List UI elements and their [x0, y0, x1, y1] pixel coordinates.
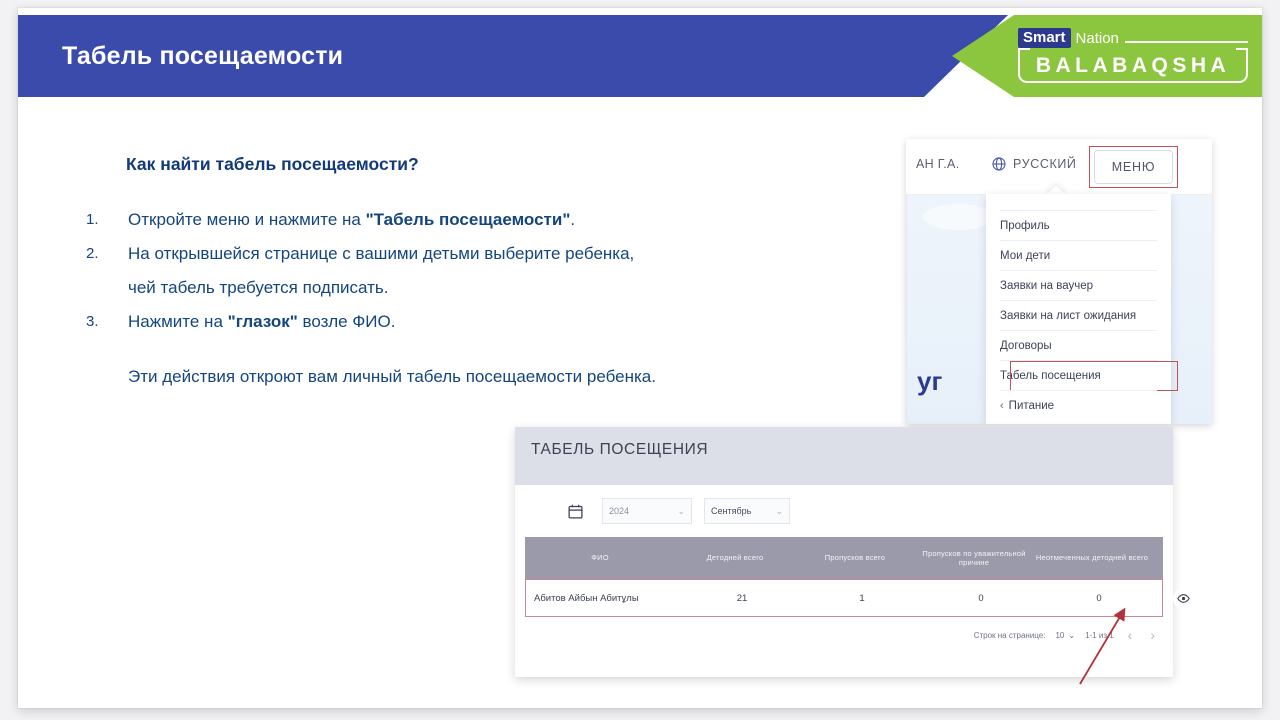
pagination-range: 1-1 из 1: [1085, 631, 1114, 640]
menu-button[interactable]: МЕНЮ: [1094, 150, 1173, 184]
globe-icon: [991, 156, 1007, 172]
logo-product-text: BALABAQSHA: [1036, 54, 1230, 78]
eye-icon: [1177, 592, 1190, 605]
page-title: Табель посещаемости: [62, 15, 343, 97]
attendance-menu-highlight: [1010, 361, 1178, 391]
calendar-icon: [567, 503, 584, 520]
table-header-row: ФИО Детодней всего Пропусков всего Пропу…: [525, 537, 1163, 579]
chevron-down-icon: ⌄: [775, 506, 783, 517]
chevron-down-icon: ⌄: [677, 506, 685, 517]
pagination: Строк на странице: 10 ⌄ 1-1 из 1 ‹ ›: [515, 627, 1159, 643]
view-row-button[interactable]: [1173, 588, 1194, 609]
column-header-child-days: Детодней всего: [675, 553, 795, 563]
menu-item-label: Питание: [1009, 400, 1054, 412]
cell-child-days: 21: [682, 593, 802, 604]
dropdown-top-spacer: [986, 194, 1171, 210]
background-heading-fragment: уг: [917, 366, 942, 397]
previous-page-button[interactable]: ‹: [1124, 627, 1137, 643]
list-item: 1. Откройте меню и нажмите на "Табель по…: [86, 204, 886, 235]
menu-dropdown: Профиль Мои дети Заявки на ваучер Заявки…: [986, 194, 1171, 424]
table-body: Абитов Айбын Абитұлы 21 1 0 0: [525, 579, 1163, 617]
step-number: 2.: [86, 238, 128, 269]
month-select[interactable]: Сентябрь ⌄: [704, 498, 790, 524]
list-item: 3. Нажмите на "глазок" возле ФИО.: [86, 306, 886, 337]
filter-bar: 2024 ⌄ Сентябрь ⌄: [515, 485, 1173, 537]
menu-item-label: Профиль: [1000, 220, 1050, 232]
next-page-button[interactable]: ›: [1146, 627, 1159, 643]
rows-per-page-select[interactable]: 10 ⌄: [1055, 631, 1075, 640]
cell-excused: 0: [922, 593, 1040, 604]
column-header-absences: Пропусков всего: [795, 553, 915, 563]
column-header-excused: Пропусков по уважительной причине: [915, 549, 1033, 568]
language-label[interactable]: РУССКИЙ: [1013, 157, 1077, 171]
panel-title: ТАБЕЛЬ ПОСЕЩЕНИЯ: [531, 441, 708, 459]
panel-header: ТАБЕЛЬ ПОСЕЩЕНИЯ: [515, 427, 1173, 485]
table-row[interactable]: Абитов Айбын Абитұлы 21 1 0 0: [525, 579, 1163, 617]
chevron-down-icon: ⌄: [1068, 631, 1075, 640]
cell-unmarked: 0: [1040, 593, 1158, 604]
rows-per-page-value: 10: [1055, 631, 1064, 640]
step-text: На открывшейся странице с вашими детьми …: [128, 238, 886, 269]
section-subheading: Как найти табель посещаемости?: [126, 154, 419, 175]
cell-fio: Абитов Айбын Абитұлы: [526, 593, 682, 604]
menu-item-voucher-requests[interactable]: Заявки на ваучер: [1000, 270, 1157, 300]
header-banner: Табель посещаемости Smart Nation BALABAQ…: [18, 15, 1262, 97]
brand-logo: Smart Nation BALABAQSHA: [1018, 27, 1248, 87]
attendance-table-screenshot: ТАБЕЛЬ ПОСЕЩЕНИЯ 2024 ⌄ Сентябрь ⌄ ФИО Д…: [515, 427, 1173, 677]
cell-absences: 1: [802, 593, 922, 604]
menu-item-label: Заявки на лист ожидания: [1000, 310, 1136, 322]
step-number-blank: [86, 272, 128, 303]
slide: Табель посещаемости Smart Nation BALABAQ…: [18, 8, 1262, 708]
logo-corner-left: [1018, 48, 1030, 50]
step-text: Нажмите на "глазок" возле ФИО.: [128, 306, 886, 337]
year-value: 2024: [609, 506, 629, 516]
menu-item-attendance-sheet[interactable]: Табель посещения: [1000, 360, 1157, 390]
step-number: 1.: [86, 204, 128, 235]
app-topbar: АН Г.А. РУССКИЙ МЕНЮ: [906, 139, 1212, 195]
menu-item-label: Заявки на ваучер: [1000, 280, 1093, 292]
logo-corner-right: [1236, 48, 1248, 50]
menu-item-contracts[interactable]: Договоры: [1000, 330, 1157, 360]
month-value: Сентябрь: [711, 506, 751, 516]
menu-item-label: Договоры: [1000, 340, 1052, 352]
cell-actions: [1158, 588, 1208, 609]
column-header-fio: ФИО: [525, 553, 675, 563]
menu-item-label: Мои дети: [1000, 250, 1050, 262]
step-text: чей табель требуется подписать.: [128, 272, 886, 303]
menu-item-profile[interactable]: Профиль: [1000, 210, 1157, 240]
list-item-continuation: чей табель требуется подписать.: [86, 272, 886, 303]
menu-item-my-children[interactable]: Мои дети: [1000, 240, 1157, 270]
user-name-label: АН Г.А.: [916, 157, 959, 171]
menu-item-meals[interactable]: ‹ Питание: [1000, 390, 1157, 420]
menu-screenshot: уг ных АН Г.А. РУССКИЙ МЕНЮ Профиль Мои …: [906, 139, 1212, 424]
steps-list: 1. Откройте меню и нажмите на "Табель по…: [86, 204, 886, 340]
logo-nation-text: Nation: [1076, 29, 1119, 48]
rows-per-page-label: Строк на странице:: [974, 631, 1046, 640]
logo-smart-text: Smart: [1018, 28, 1071, 48]
column-header-unmarked: Неотмеченных детодней всего: [1033, 553, 1151, 563]
list-item: 2. На открывшейся странице с вашими деть…: [86, 238, 886, 269]
cloud-decoration: [923, 204, 993, 230]
chevron-left-icon: ‹: [1000, 400, 1004, 412]
logo-rule: [1125, 41, 1248, 43]
step-number: 3.: [86, 306, 128, 337]
menu-item-waitlist-requests[interactable]: Заявки на лист ожидания: [1000, 300, 1157, 330]
year-select[interactable]: 2024 ⌄: [602, 498, 692, 524]
closing-note: Эти действия откроют вам личный табель п…: [128, 362, 656, 392]
step-text: Откройте меню и нажмите на "Табель посещ…: [128, 204, 886, 235]
